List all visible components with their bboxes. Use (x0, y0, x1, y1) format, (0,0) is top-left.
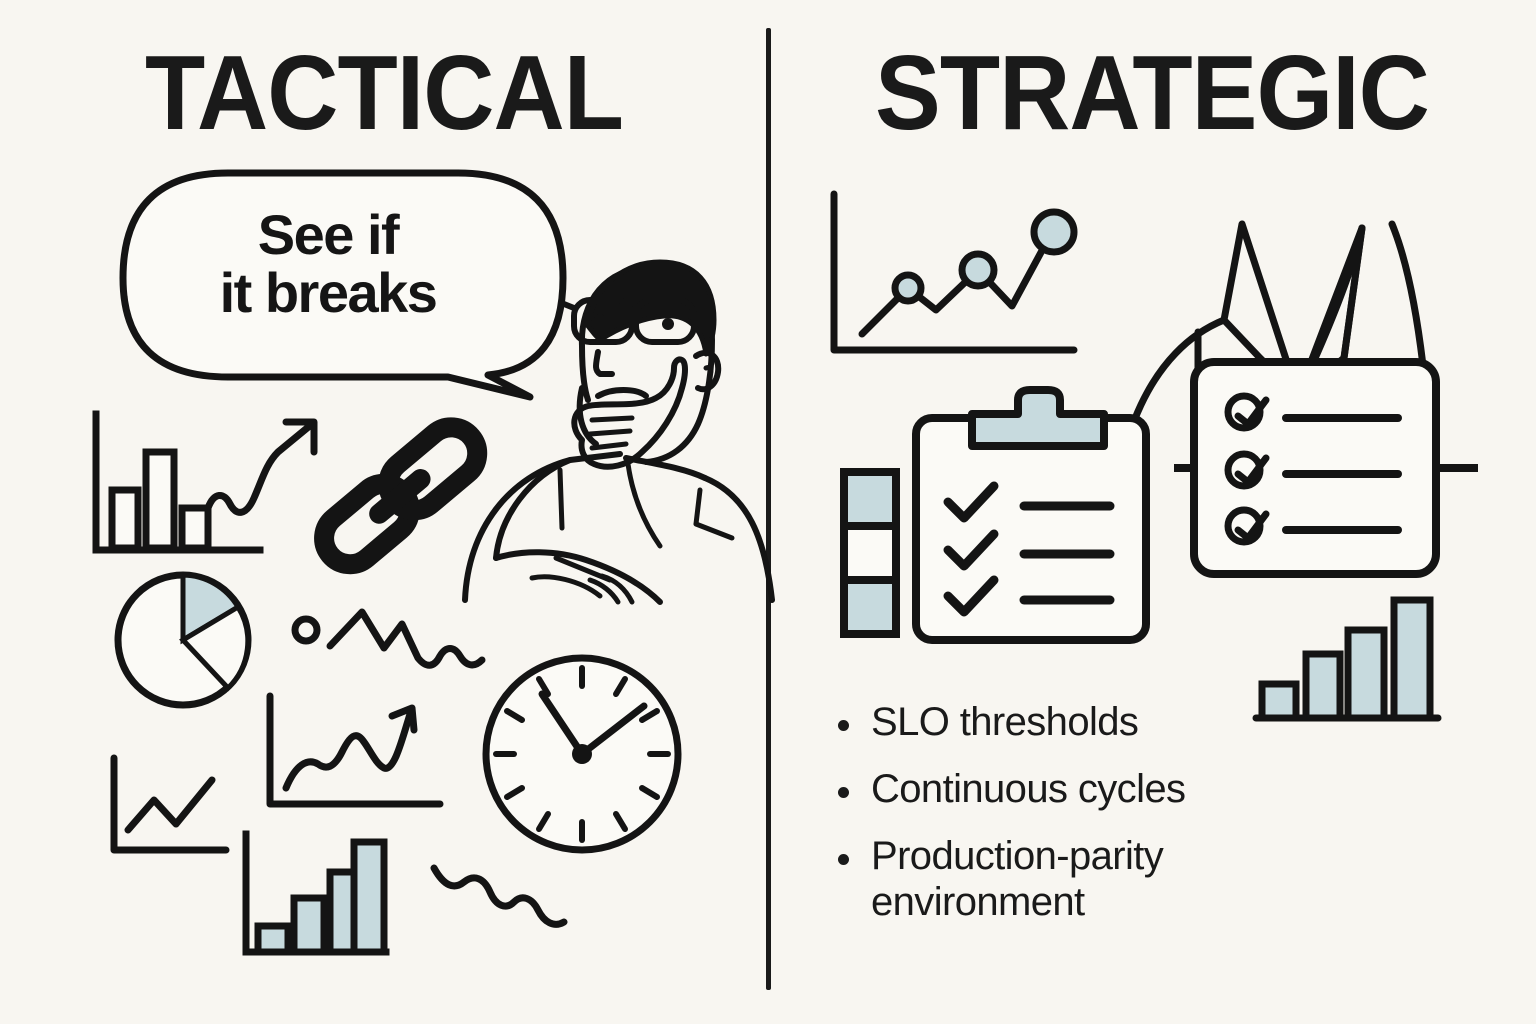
page-title-tactical: TACTICAL (27, 40, 741, 146)
chain-link-icon (300, 408, 500, 583)
thinking-person-icon (460, 228, 780, 608)
bullet-label: Continuous cycles (871, 767, 1318, 812)
line-chart-small-icon (106, 752, 256, 872)
wavy-line-icon (428, 860, 588, 950)
bullet-dot-icon (838, 854, 849, 865)
zigzag-line-icon (326, 604, 486, 684)
line-chart-markers-icon (826, 186, 1106, 376)
clipboard-checklist-icon (908, 390, 1158, 650)
pie-chart-icon (110, 562, 270, 722)
bullet-dot-icon (838, 787, 849, 798)
bullet-label: Production-parity environment (871, 834, 1318, 924)
ascending-bar-chart-icon (240, 828, 400, 968)
line-chart-squiggle-icon (264, 692, 444, 822)
clock-icon (476, 648, 688, 860)
strategic-bullet-list: SLO thresholds Continuous cycles Product… (838, 700, 1318, 947)
bullet-label: SLO thresholds (871, 700, 1318, 745)
list-item: Continuous cycles (838, 767, 1318, 812)
checklist-card-icon (1186, 356, 1486, 586)
small-circle-icon (288, 612, 324, 648)
infographic-canvas: TACTICAL STRATEGIC See if it breaks (0, 0, 1536, 1024)
list-item: SLO thresholds (838, 700, 1318, 745)
bullet-dot-icon (838, 720, 849, 731)
page-title-strategic: STRATEGIC (795, 40, 1509, 146)
segmented-bar-indicator-icon (838, 468, 902, 638)
list-item: Production-parity environment (838, 834, 1318, 924)
